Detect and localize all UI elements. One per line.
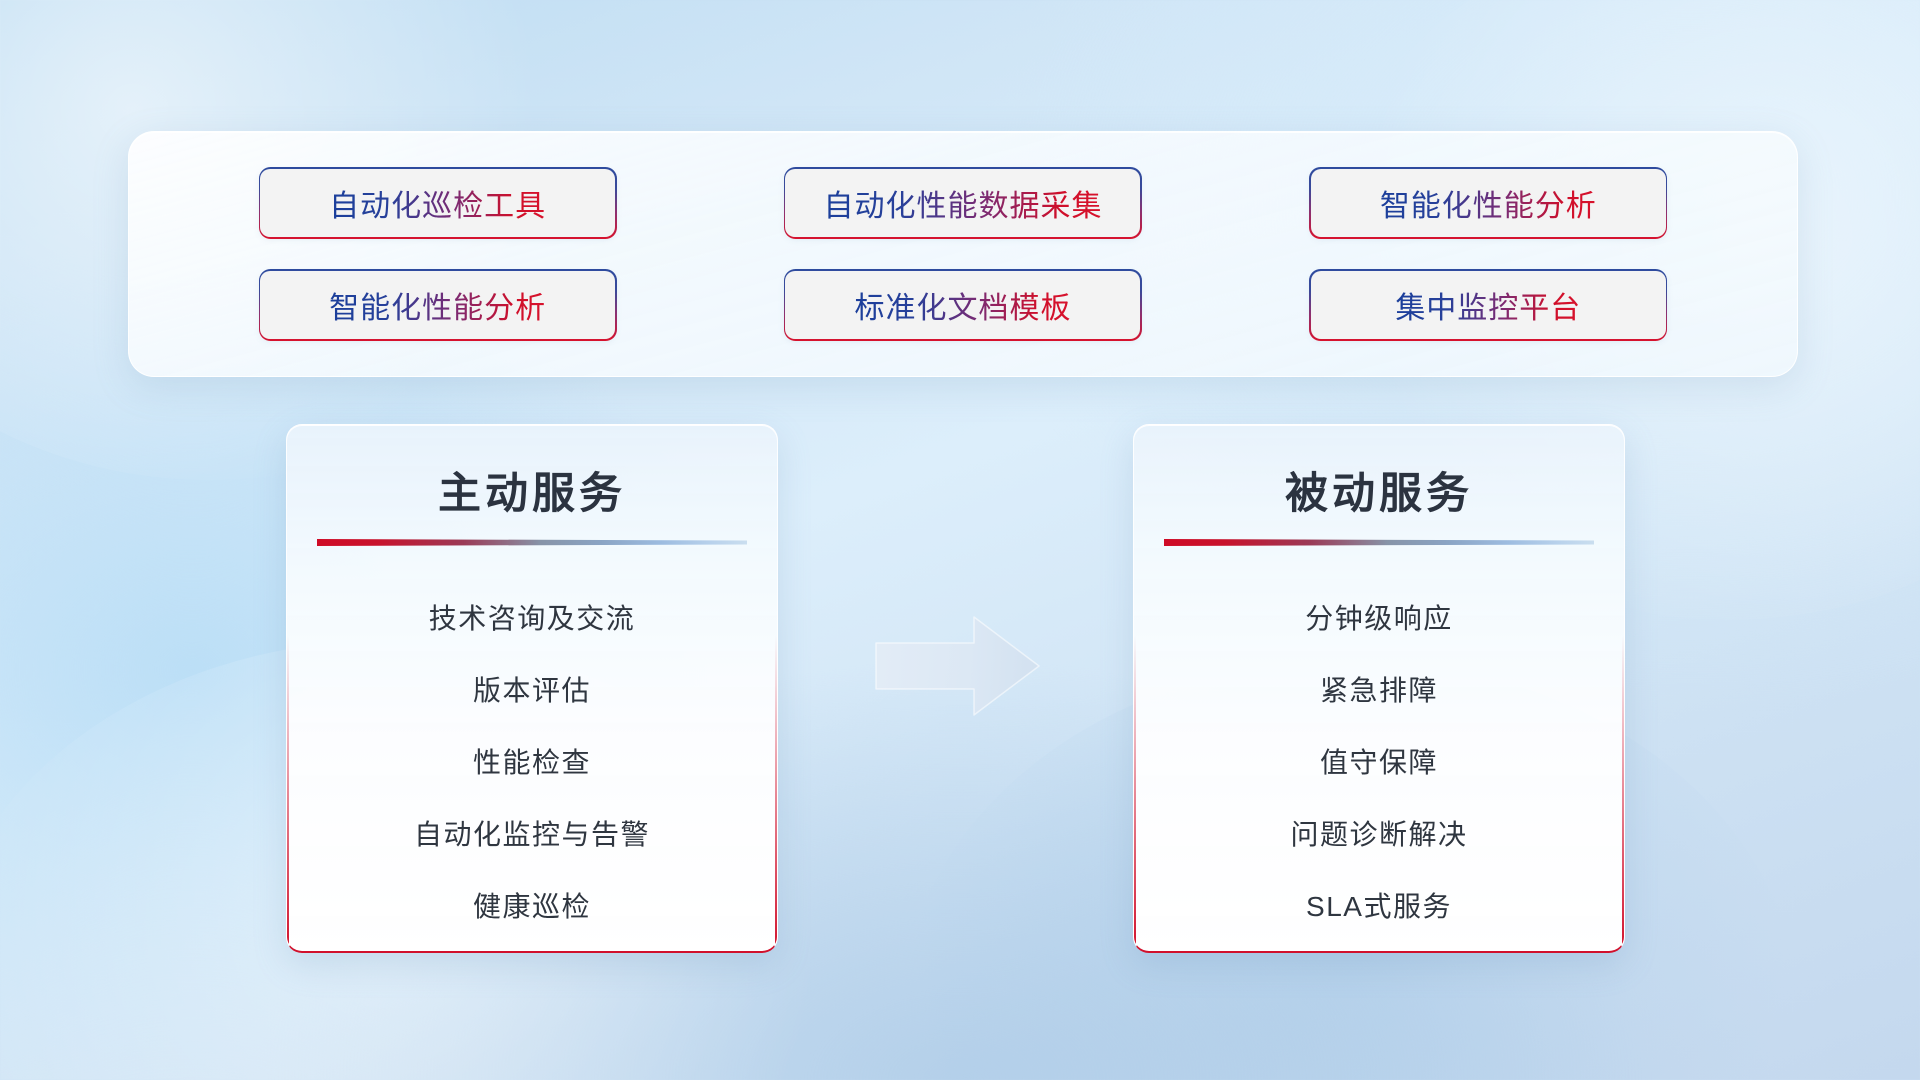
capability-chip[interactable]: 自动化性能数据采集 <box>785 169 1140 237</box>
service-item: 值守保障 <box>1134 727 1624 799</box>
service-card-title: 被动服务 <box>1134 459 1624 521</box>
capability-chip-label: 智能化性能分析 <box>329 283 546 327</box>
service-item: SLA式服务 <box>1134 871 1624 943</box>
capability-chip-label: 集中监控平台 <box>1395 283 1581 327</box>
service-card-title: 主动服务 <box>287 459 777 521</box>
capability-chip[interactable]: 集中监控平台 <box>1311 271 1666 339</box>
service-card-reactive[interactable]: 被动服务 分钟级响应 紧急排障 值守保障 问题诊断解决 SLA式服务 <box>1133 424 1625 953</box>
capability-chip-label: 自动化巡检工具 <box>329 181 546 225</box>
arrow-right-icon <box>874 615 1041 717</box>
service-item: 性能检查 <box>287 727 777 799</box>
capability-chip-label: 自动化性能数据采集 <box>823 181 1102 225</box>
service-card-proactive[interactable]: 主动服务 技术咨询及交流 版本评估 性能检查 自动化监控与告警 健康巡检 <box>286 424 778 953</box>
capability-chip[interactable]: 标准化文档模板 <box>785 271 1140 339</box>
capability-chip[interactable]: 智能化性能分析 <box>260 271 615 339</box>
service-item: 版本评估 <box>287 655 777 727</box>
title-divider <box>1164 539 1594 546</box>
service-item: 健康巡检 <box>287 871 777 943</box>
service-item-list: 分钟级响应 紧急排障 值守保障 问题诊断解决 SLA式服务 <box>1134 583 1624 943</box>
title-divider <box>317 539 747 546</box>
capability-chip-label: 智能化性能分析 <box>1380 181 1597 225</box>
service-item: 技术咨询及交流 <box>287 583 777 655</box>
service-item: 自动化监控与告警 <box>287 799 777 871</box>
capability-chip[interactable]: 自动化巡检工具 <box>260 169 615 237</box>
capability-chip-label: 标准化文档模板 <box>854 283 1071 327</box>
service-item: 分钟级响应 <box>1134 583 1624 655</box>
service-item-list: 技术咨询及交流 版本评估 性能检查 自动化监控与告警 健康巡检 <box>287 583 777 943</box>
capability-chip[interactable]: 智能化性能分析 <box>1311 169 1666 237</box>
service-item: 紧急排障 <box>1134 655 1624 727</box>
capability-panel: 自动化巡检工具 自动化性能数据采集 智能化性能分析 智能化性能分析 标准化文档模… <box>128 131 1798 377</box>
service-item: 问题诊断解决 <box>1134 799 1624 871</box>
